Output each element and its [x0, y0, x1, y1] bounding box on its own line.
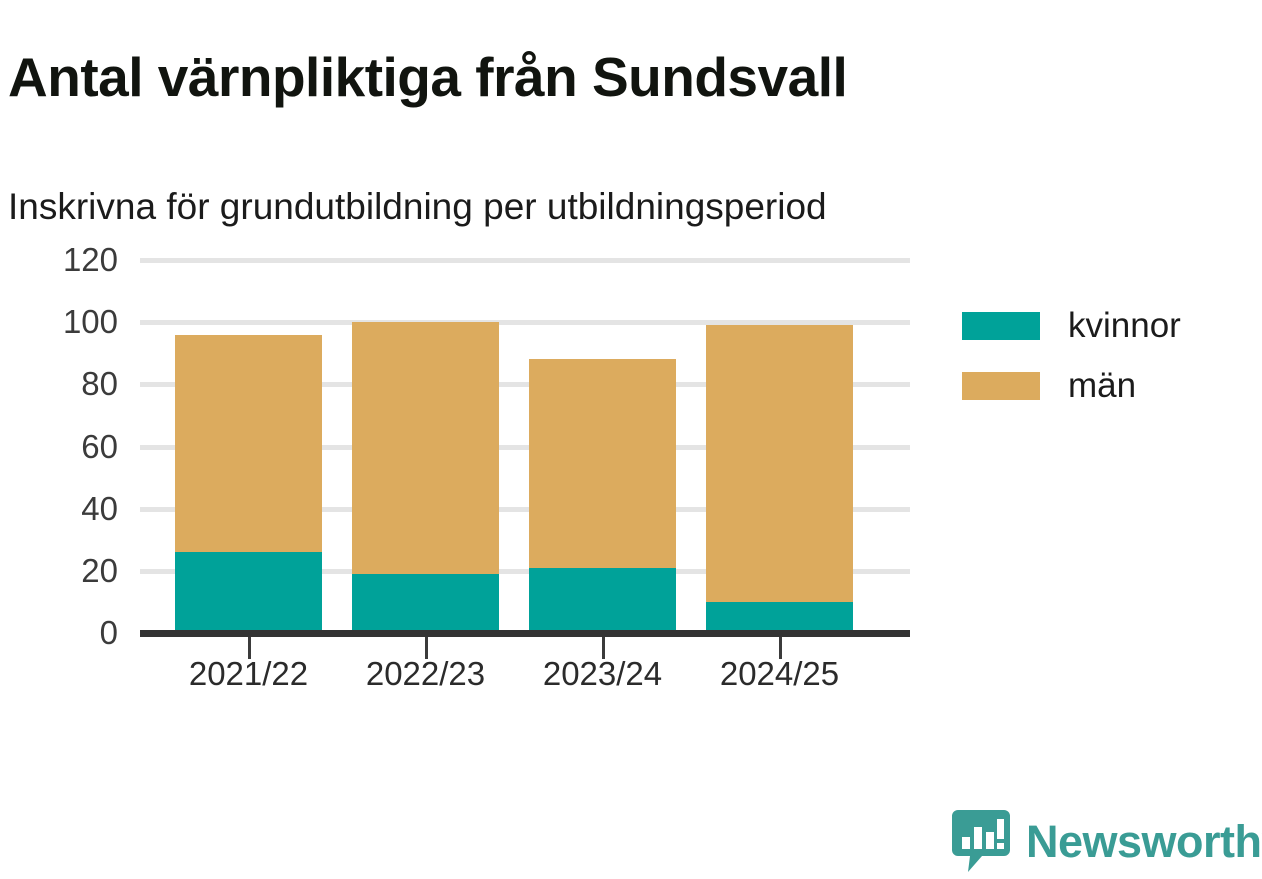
x-tick-label: 2023/24: [543, 655, 662, 693]
bar-segment-kvinnor[interactable]: [352, 574, 499, 633]
legend: kvinnormän: [962, 296, 1181, 416]
bar-2024-25[interactable]: [706, 325, 853, 633]
stacked-bar-chart: 020406080100120 2021/222022/232023/24202…: [0, 0, 1262, 879]
newsworthy-logo: Newsworthy: [952, 810, 1262, 872]
bar-2021-22[interactable]: [175, 335, 322, 633]
bar-chart-speech-bubble-icon: [952, 810, 1010, 872]
bar-segment-kvinnor[interactable]: [175, 552, 322, 633]
bar-segment-män[interactable]: [529, 359, 676, 567]
y-tick-label: 80: [8, 365, 118, 403]
y-tick-label: 40: [8, 490, 118, 528]
bar-2022-23[interactable]: [352, 322, 499, 633]
legend-label: kvinnor: [1068, 306, 1181, 346]
legend-label: män: [1068, 366, 1136, 406]
bar-2023-24[interactable]: [529, 359, 676, 633]
bar-segment-män[interactable]: [175, 335, 322, 553]
y-tick-label: 120: [8, 241, 118, 279]
legend-swatch-kvinnor: [962, 312, 1040, 340]
y-tick-label: 20: [8, 552, 118, 590]
bar-segment-män[interactable]: [352, 322, 499, 574]
legend-item-kvinnor[interactable]: kvinnor: [962, 296, 1181, 356]
bar-segment-män[interactable]: [706, 325, 853, 602]
x-tick-label: 2022/23: [366, 655, 485, 693]
gridline: [140, 258, 910, 263]
bar-segment-kvinnor[interactable]: [706, 602, 853, 633]
legend-item-män[interactable]: män: [962, 356, 1181, 416]
y-tick-label: 0: [8, 614, 118, 652]
x-tick-label: 2021/22: [189, 655, 308, 693]
y-tick-label: 100: [8, 303, 118, 341]
bar-segment-kvinnor[interactable]: [529, 568, 676, 633]
legend-swatch-män: [962, 372, 1040, 400]
x-axis-line: [140, 630, 910, 637]
logo-wordmark: Newsworthy: [1026, 819, 1262, 864]
y-tick-label: 60: [8, 428, 118, 466]
y-axis: 020406080100120: [0, 0, 118, 879]
x-tick-label: 2024/25: [720, 655, 839, 693]
